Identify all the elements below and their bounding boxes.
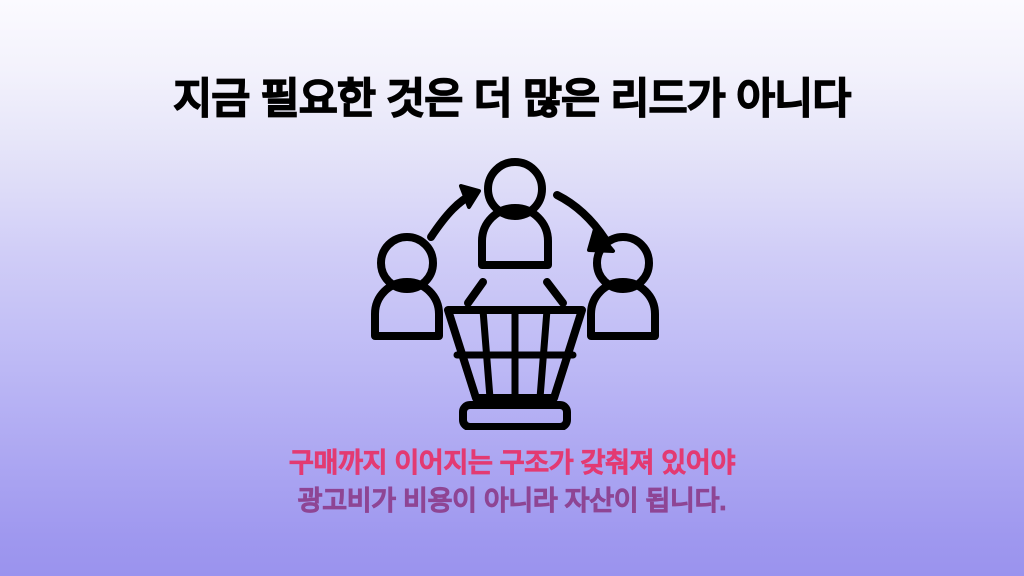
slide-canvas: 지금 필요한 것은 더 많은 리드가 아니다 — [0, 0, 1024, 576]
basket-base-icon — [463, 405, 567, 427]
page-title: 지금 필요한 것은 더 많은 리드가 아니다 — [0, 73, 1024, 126]
caption-line-2: 광고비가 비용이 아니라 자산이 됩니다. — [0, 482, 1024, 520]
shopping-basket-icon — [448, 282, 582, 398]
person-center-icon — [482, 162, 548, 265]
caption-block: 구매까지 이어지는 구조가 갖춰져 있어야 광고비가 비용이 아니라 자산이 됩… — [0, 444, 1024, 520]
conversion-funnel-illustration — [355, 155, 675, 430]
arrow-left-to-center-icon — [431, 186, 479, 237]
caption-line-1: 구매까지 이어지는 구조가 갖춰져 있어야 — [0, 444, 1024, 482]
person-left-icon — [375, 237, 439, 336]
arrow-center-to-right-icon — [557, 195, 613, 251]
illustration-svg — [355, 155, 675, 430]
